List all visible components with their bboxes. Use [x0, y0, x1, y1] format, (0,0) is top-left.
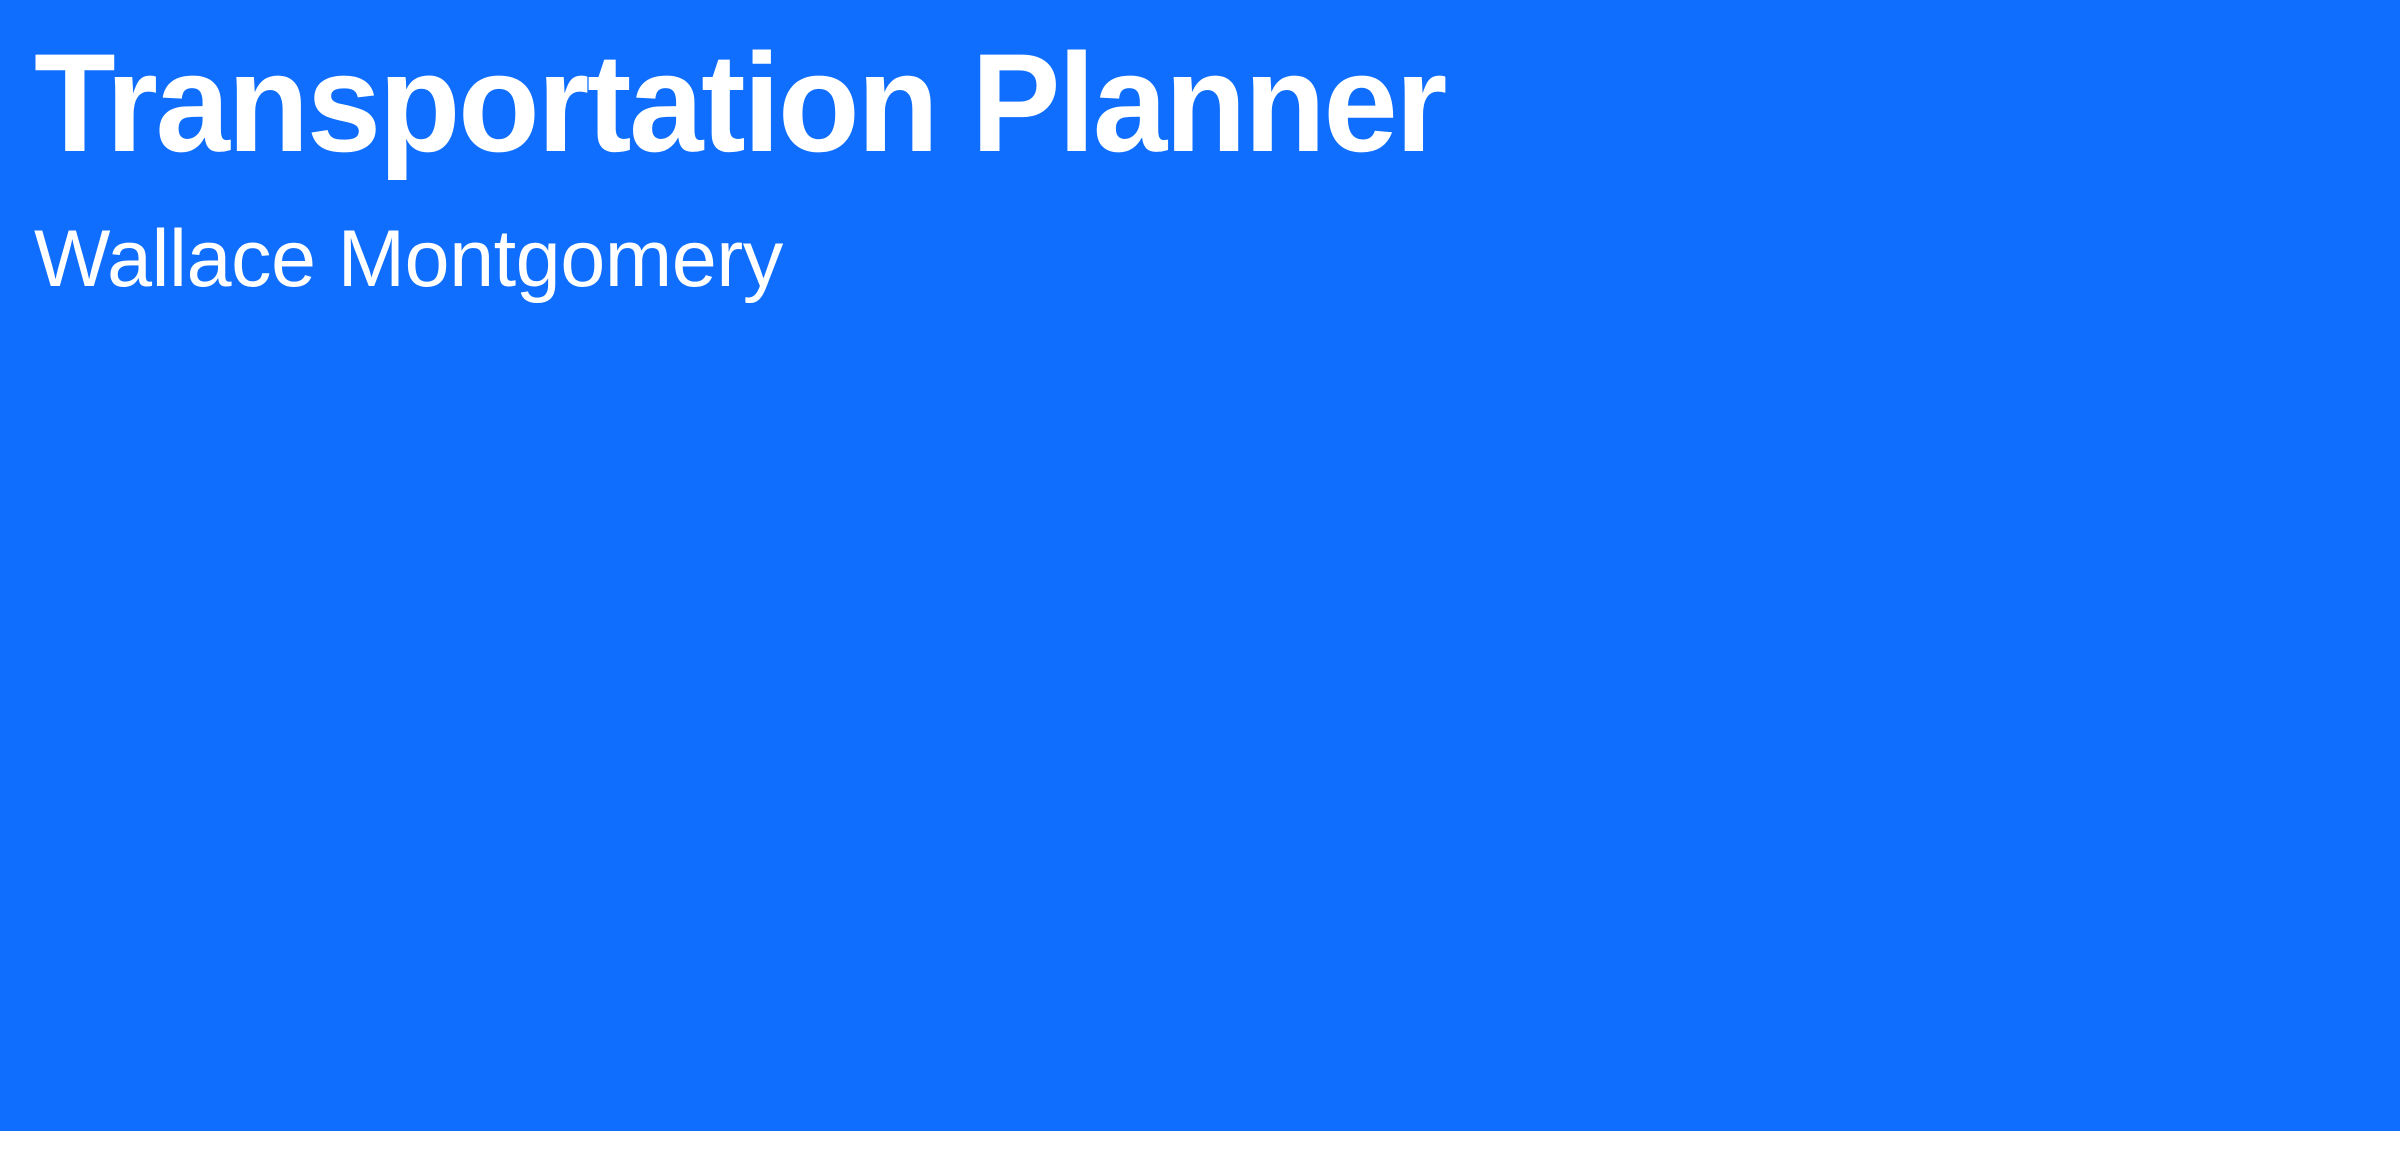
title-banner: Transportation Planner Wallace Montgomer… — [0, 0, 2400, 1131]
page-subtitle: Wallace Montgomery — [34, 219, 783, 300]
page-title: Transportation Planner — [34, 33, 1445, 173]
content-area — [0, 1131, 2400, 1173]
slide-root: Transportation Planner Wallace Montgomer… — [0, 0, 2400, 1173]
